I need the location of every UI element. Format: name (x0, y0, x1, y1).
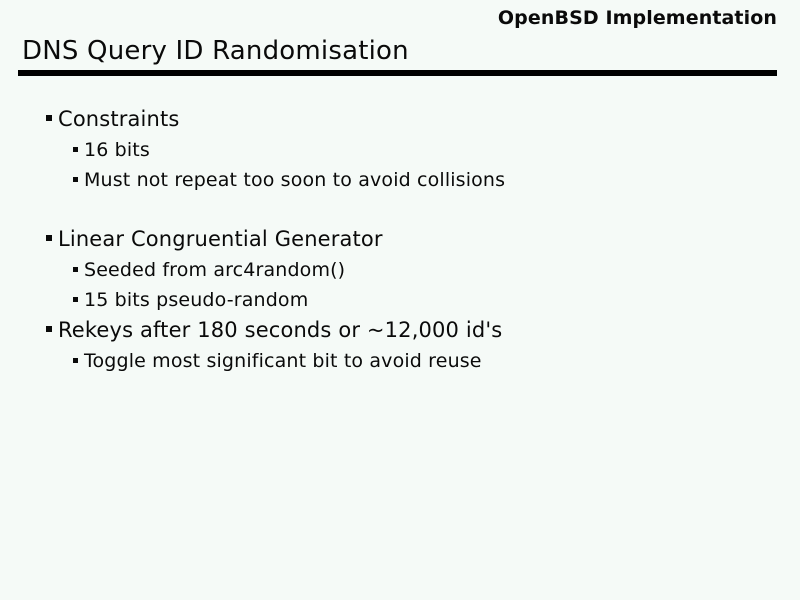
bullet-item-label: 15 bits pseudo-random (84, 285, 308, 315)
bullet-item-level-2: Must not repeat too soon to avoid collis… (0, 165, 800, 195)
bullet-item-label: Seeded from arc4random() (84, 255, 345, 285)
square-bullet-icon (73, 177, 78, 182)
title-divider (18, 70, 777, 76)
slide-header: OpenBSD Implementation (498, 7, 777, 31)
bullet-item-label: Must not repeat too soon to avoid collis… (84, 165, 505, 195)
square-bullet-icon (46, 326, 52, 332)
bullet-item-label: Toggle most significant bit to avoid reu… (84, 346, 482, 376)
square-bullet-icon (46, 235, 52, 241)
bullet-item-level-2: Seeded from arc4random() (0, 255, 800, 285)
square-bullet-icon (73, 297, 78, 302)
bullet-item-level-1: Linear Congruential Generator (0, 224, 800, 255)
bullet-item-level-2: 16 bits (0, 135, 800, 165)
square-bullet-icon (73, 358, 78, 363)
bullet-item-level-2: Toggle most significant bit to avoid reu… (0, 346, 800, 376)
bullet-group-spacer (0, 195, 800, 224)
bullet-item-level-1: Rekeys after 180 seconds or ~12,000 id's (0, 315, 800, 346)
square-bullet-icon (46, 115, 52, 121)
square-bullet-icon (73, 267, 78, 272)
bullet-list: Constraints16 bitsMust not repeat too so… (0, 104, 800, 376)
bullet-item-label: Rekeys after 180 seconds or ~12,000 id's (58, 315, 502, 346)
bullet-item-level-2: 15 bits pseudo-random (0, 285, 800, 315)
bullet-item-label: 16 bits (84, 135, 150, 165)
bullet-item-level-1: Constraints (0, 104, 800, 135)
page-title: DNS Query ID Randomisation (22, 37, 409, 67)
bullet-item-label: Linear Congruential Generator (58, 224, 383, 255)
square-bullet-icon (73, 147, 78, 152)
slide: OpenBSD Implementation DNS Query ID Rand… (0, 0, 800, 600)
bullet-item-label: Constraints (58, 104, 179, 135)
